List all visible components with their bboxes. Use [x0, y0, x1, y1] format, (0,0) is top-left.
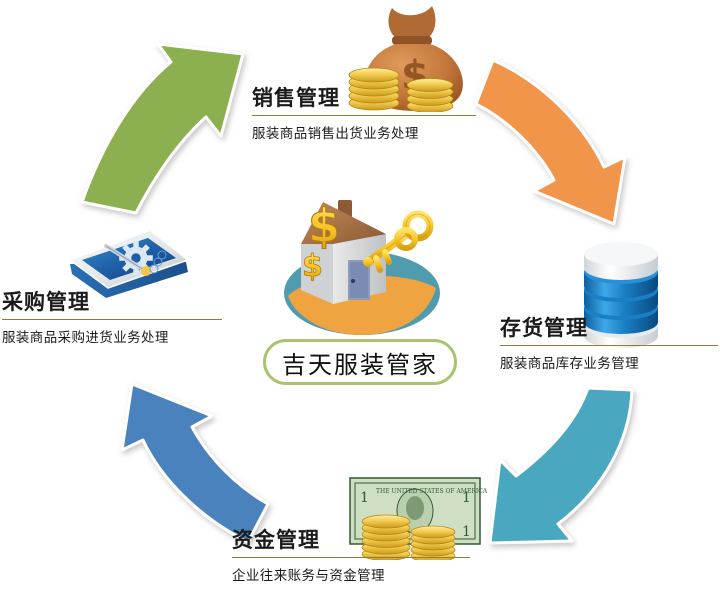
svg-text:$: $	[308, 199, 340, 253]
module-funds-title: 资金管理	[232, 530, 470, 551]
center-label-text: 吉天服装管家	[282, 345, 438, 380]
module-inventory-rule	[500, 345, 718, 346]
center-label-badge: 吉天服装管家	[263, 339, 457, 385]
module-purchase-rule	[2, 319, 222, 320]
module-inventory-desc: 服装商品库存业务管理	[500, 352, 718, 372]
module-inventory: 存货管理 服装商品库存业务管理	[500, 318, 718, 372]
module-purchase-title: 采购管理	[2, 292, 222, 313]
house-with-dollar-and-key-icon: $ $	[268, 192, 456, 342]
svg-text:1: 1	[360, 490, 369, 506]
module-inventory-title: 存货管理	[500, 318, 718, 339]
diagram-canvas: $ $ 吉天服装管家	[0, 0, 720, 616]
arrow-green-purchase-to-sales	[80, 18, 260, 213]
svg-text:THE UNITED STATES OF AMERICA: THE UNITED STATES OF AMERICA	[376, 488, 488, 495]
svg-text:$: $	[302, 249, 323, 284]
module-sales-rule	[252, 115, 476, 116]
module-sales-desc: 服装商品销售出货业务处理	[252, 122, 476, 142]
module-purchase-desc: 服装商品采购进货业务处理	[2, 326, 222, 346]
module-purchase: 采购管理 服装商品采购进货业务处理	[2, 292, 222, 346]
module-funds-desc: 企业往来账务与资金管理	[232, 564, 470, 584]
module-funds-rule	[232, 557, 470, 558]
arrow-orange-sales-to-inventory	[468, 28, 648, 228]
module-sales: 销售管理 服装商品销售出货业务处理	[252, 88, 476, 142]
module-funds: 资金管理 企业往来账务与资金管理	[232, 530, 470, 584]
module-sales-title: 销售管理	[252, 88, 476, 109]
